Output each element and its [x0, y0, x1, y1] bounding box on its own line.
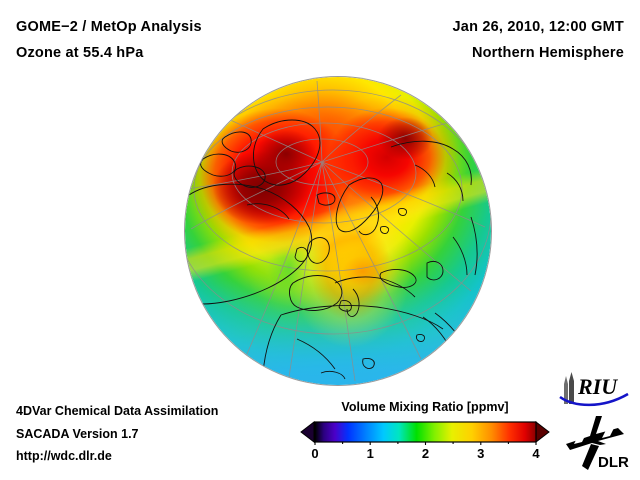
- figure-canvas: GOME−2 / MetOp Analysis Ozone at 55.4 hP…: [0, 0, 640, 480]
- colorbar-tick-1: 1: [367, 446, 374, 461]
- footer-line-version: SACADA Version 1.7: [16, 423, 218, 446]
- footer-line-url[interactable]: http://wdc.dlr.de: [16, 445, 218, 468]
- page-title: GOME−2 / MetOp Analysis: [16, 14, 202, 40]
- page-subtitle: Ozone at 55.4 hPa: [16, 40, 202, 66]
- colorbar-title: Volume Mixing Ratio [ppmv]: [300, 400, 550, 414]
- dlr-logo-text: DLR: [598, 454, 629, 471]
- header-left: GOME−2 / MetOp Analysis Ozone at 55.4 hP…: [16, 14, 202, 66]
- footer-line-method: 4DVar Chemical Data Assimilation: [16, 400, 218, 423]
- colorbar-tick-2: 2: [422, 446, 429, 461]
- colorbar: Volume Mixing Ratio [ppmv]: [300, 400, 550, 462]
- datetime-label: Jan 26, 2010, 12:00 GMT: [453, 14, 624, 40]
- riu-logo: RIU: [558, 370, 632, 410]
- colorbar-high-arrow: [536, 422, 549, 442]
- map-overlay: [185, 77, 491, 385]
- dlr-logo: DLR: [566, 414, 634, 472]
- footer-text: 4DVar Chemical Data Assimilation SACADA …: [16, 400, 218, 468]
- colorbar-tick-0: 0: [311, 446, 318, 461]
- header-right: Jan 26, 2010, 12:00 GMT Northern Hemisph…: [453, 14, 624, 66]
- colorbar-tick-4: 4: [532, 446, 539, 461]
- colorbar-tick-labels: 0 1 2 3 4: [300, 446, 550, 462]
- colorbar-low-arrow: [301, 422, 314, 442]
- globe-map: [185, 77, 491, 385]
- globe-disk: [185, 77, 491, 385]
- graticule: [185, 81, 491, 381]
- colorbar-gradient: [300, 419, 550, 445]
- region-label: Northern Hemisphere: [453, 40, 624, 66]
- riu-logo-text: RIU: [577, 374, 618, 399]
- colorbar-tick-3: 3: [477, 446, 484, 461]
